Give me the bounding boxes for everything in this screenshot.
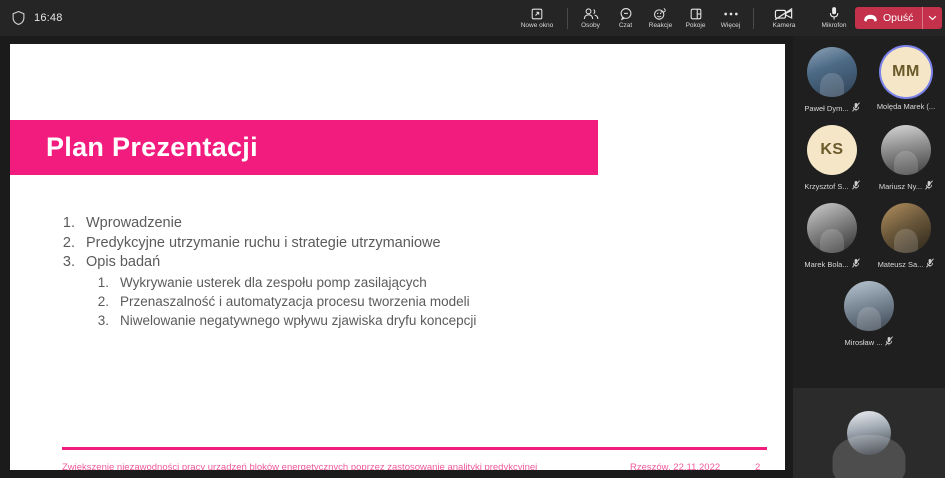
agenda-item-text: Wprowadzenie xyxy=(86,214,182,234)
more-ellipsis-icon xyxy=(723,6,739,21)
toolbar-divider-2 xyxy=(753,8,754,29)
agenda-item-number: 2. xyxy=(56,234,86,254)
participant-name: Mirosław ... xyxy=(845,338,883,347)
participant-name: Marek Bola... xyxy=(804,260,848,269)
slide-agenda-list: 1. Wprowadzenie 2. Predykcyjne utrzymani… xyxy=(56,214,696,330)
avatar: MM xyxy=(881,47,931,97)
shield-icon xyxy=(12,11,25,25)
agenda-item-number: 3. xyxy=(56,253,86,273)
toolbar-center-group: Nowe okno Osoby xyxy=(512,0,909,36)
participant-name-row: Mateusz Sa... xyxy=(878,258,935,270)
leave-options-button[interactable] xyxy=(923,7,942,29)
microphone-muted-icon xyxy=(926,258,934,270)
slide-footer-title: Zwiększenie niezawodności pracy urządzeń… xyxy=(62,462,537,471)
agenda-subitem-text: Wykrywanie usterek dla zespołu pomp zasi… xyxy=(120,273,427,292)
slide-footer: Zwiększenie niezawodności pracy urządzeń… xyxy=(10,458,785,470)
self-preview-tile[interactable] xyxy=(793,388,945,478)
participant-tile[interactable]: Mateusz Sa... xyxy=(875,203,937,270)
toolbar-rooms-label: Pokoje xyxy=(686,22,706,30)
toolbar-chat-label: Czat xyxy=(619,22,632,30)
toolbar-divider xyxy=(567,8,568,29)
toolbar-reactions-button[interactable]: Reakcje xyxy=(643,0,678,36)
breakout-rooms-icon xyxy=(689,6,703,21)
microphone-muted-icon xyxy=(852,102,860,114)
participant-name-row: Paweł Dym... xyxy=(804,102,859,114)
reactions-icon xyxy=(653,6,668,21)
participant-name: Mateusz Sa... xyxy=(878,260,924,269)
slide-page-number: 2 xyxy=(755,462,760,471)
slide-footer-rule xyxy=(62,447,767,450)
leave-main-area[interactable]: Opuść xyxy=(855,7,922,29)
toolbar-new-window-button[interactable]: Nowe okno xyxy=(512,0,562,36)
agenda-item: 3. Opis badań xyxy=(56,253,696,273)
participant-tile[interactable]: MM Molęda Marek (... xyxy=(875,47,937,114)
participant-name-row: Molęda Marek (... xyxy=(877,102,935,111)
agenda-subitem-text: Przenaszalność i automatyzacja procesu t… xyxy=(120,292,470,311)
avatar-photo xyxy=(844,281,894,331)
toolbar-reactions-label: Reakcje xyxy=(649,22,672,30)
avatar xyxy=(807,47,857,97)
agenda-item: 1. Wprowadzenie xyxy=(56,214,696,234)
participant-name: Molęda Marek (... xyxy=(877,102,935,111)
presentation-slide: Plan Prezentacji 1. Wprowadzenie 2. Pred… xyxy=(10,44,785,470)
participant-name-row: Mariusz Ny... xyxy=(879,180,933,192)
avatar-photo xyxy=(807,203,857,253)
agenda-item-text: Opis badań xyxy=(86,253,160,273)
shared-content-stage[interactable]: Plan Prezentacji 1. Wprowadzenie 2. Pred… xyxy=(0,36,793,478)
slide-title-band: Plan Prezentacji xyxy=(10,120,598,175)
people-icon xyxy=(583,6,599,21)
avatar-photo xyxy=(807,47,857,97)
toolbar-people-button[interactable]: Osoby xyxy=(573,0,608,36)
participant-row: Paweł Dym... MM xyxy=(793,47,945,114)
toolbar-microphone-label: Mikrofon xyxy=(822,22,847,30)
avatar xyxy=(847,411,891,455)
participant-row: Mirosław ... xyxy=(793,281,945,348)
agenda-subitem-number: 3. xyxy=(94,311,120,330)
agenda-item: 2. Predykcyjne utrzymanie ruchu i strate… xyxy=(56,234,696,254)
avatar-photo xyxy=(847,411,891,455)
microphone-muted-icon xyxy=(852,258,860,270)
camera-off-icon xyxy=(774,6,794,21)
toolbar-camera-label: Kamera xyxy=(773,22,796,30)
participant-row: KS Krzysztof S... xyxy=(793,125,945,192)
toolbar-new-window-label: Nowe okno xyxy=(521,22,554,30)
agenda-item-number: 1. xyxy=(56,214,86,234)
avatar xyxy=(881,203,931,253)
meeting-toolbar: 16:48 Nowe okno xyxy=(0,0,945,36)
microphone-muted-icon xyxy=(852,180,860,192)
participant-name-row: Krzysztof S... xyxy=(804,180,859,192)
avatar xyxy=(881,125,931,175)
leave-meeting-button[interactable]: Opuść xyxy=(855,7,942,29)
participant-tile[interactable]: Marek Bola... xyxy=(801,203,863,270)
participant-row: Marek Bola... xyxy=(793,203,945,270)
agenda-subitem-number: 1. xyxy=(94,273,120,292)
avatar xyxy=(844,281,894,331)
participants-rail: Paweł Dym... MM xyxy=(793,36,945,478)
participant-name-row: Mirosław ... xyxy=(845,336,894,348)
toolbar-more-label: Więcej xyxy=(721,22,741,30)
agenda-subitem-text: Niwelowanie negatywnego wpływu zjawiska … xyxy=(120,311,476,330)
toolbar-people-label: Osoby xyxy=(581,22,600,30)
toolbar-microphone-toggle[interactable]: Mikrofon xyxy=(809,0,859,36)
agenda-subitem-number: 2. xyxy=(94,292,120,311)
participant-name: Krzysztof S... xyxy=(804,182,848,191)
toolbar-camera-toggle[interactable]: Kamera xyxy=(759,0,809,36)
agenda-subitem: 1. Wykrywanie usterek dla zespołu pomp z… xyxy=(56,273,696,292)
avatar: KS xyxy=(807,125,857,175)
participant-tile[interactable]: Mirosław ... xyxy=(838,281,900,348)
toolbar-left-group: 16:48 xyxy=(0,11,300,25)
participant-tile[interactable]: KS Krzysztof S... xyxy=(801,125,863,192)
participant-tile[interactable]: Mariusz Ny... xyxy=(875,125,937,192)
participant-name: Paweł Dym... xyxy=(804,104,848,113)
agenda-subitem: 3. Niwelowanie negatywnego wpływu zjawis… xyxy=(56,311,696,330)
toolbar-chat-button[interactable]: Czat xyxy=(608,0,643,36)
microphone-muted-icon xyxy=(885,336,893,348)
agenda-subitem: 2. Przenaszalność i automatyzacja proces… xyxy=(56,292,696,311)
toolbar-rooms-button[interactable]: Pokoje xyxy=(678,0,713,36)
teams-meeting-window: 16:48 Nowe okno xyxy=(0,0,945,478)
slide-title: Plan Prezentacji xyxy=(10,132,258,163)
slide-footer-place-date: Rzeszów, 22.11.2022 xyxy=(630,462,720,471)
avatar xyxy=(807,203,857,253)
new-window-icon xyxy=(530,6,544,21)
leave-label: Opuść xyxy=(883,12,913,24)
avatar-photo xyxy=(881,203,931,253)
clock-label: 16:48 xyxy=(34,12,63,24)
chevron-down-icon xyxy=(928,15,937,21)
microphone-icon xyxy=(828,6,840,21)
hangup-icon xyxy=(863,14,878,23)
participant-tile[interactable]: Paweł Dym... xyxy=(801,47,863,114)
participant-roster: Paweł Dym... MM xyxy=(793,36,945,388)
avatar-photo xyxy=(881,125,931,175)
toolbar-more-button[interactable]: Więcej xyxy=(713,0,748,36)
microphone-muted-icon xyxy=(925,180,933,192)
agenda-item-text: Predykcyjne utrzymanie ruchu i strategie… xyxy=(86,234,441,254)
participant-name: Mariusz Ny... xyxy=(879,182,922,191)
avatar-initials: MM xyxy=(892,63,920,81)
chat-icon xyxy=(619,6,633,21)
avatar-initials: KS xyxy=(820,141,843,159)
participant-name-row: Marek Bola... xyxy=(804,258,859,270)
